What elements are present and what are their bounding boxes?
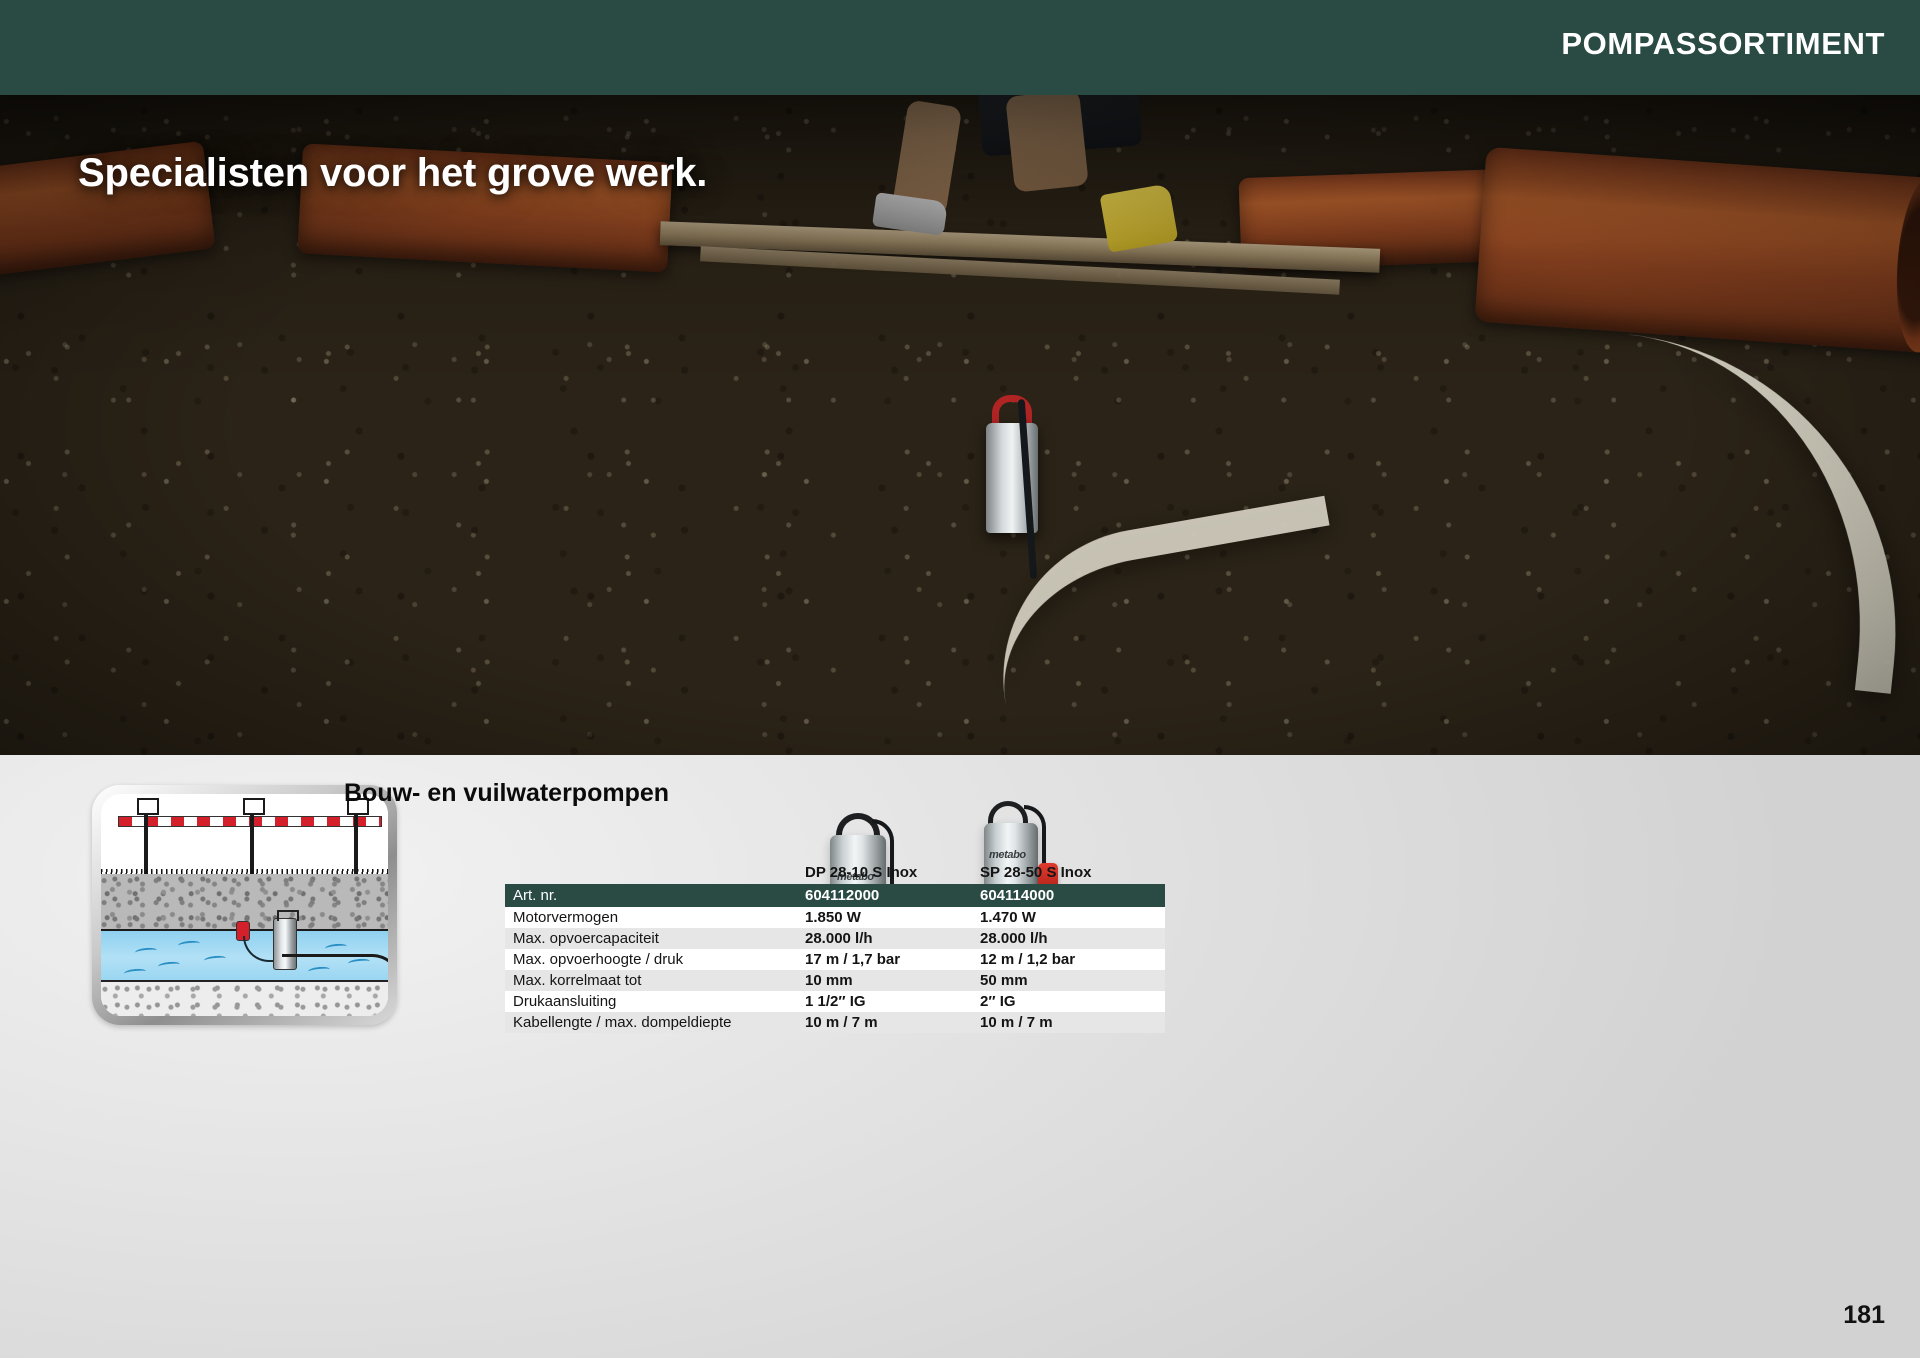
table-row: Art. nr. 604112000 604114000 xyxy=(505,884,1165,907)
barrier-post xyxy=(250,807,254,874)
row-value-dp: 1.850 W xyxy=(805,909,980,926)
row-label: Max. korrelmaat tot xyxy=(505,972,805,989)
table-row: Max. opvoercapaciteit 28.000 l/h 28.000 … xyxy=(505,928,1165,949)
barrier-post xyxy=(144,807,148,874)
row-label: Kabellengte / max. dompeldiepte xyxy=(505,1014,805,1031)
row-label: Drukaansluiting xyxy=(505,993,805,1010)
table-header-row: DP 28-10 S Inox SP 28-50 S Inox xyxy=(505,860,1165,884)
table-row: Kabellengte / max. dompeldiepte 10 m / 7… xyxy=(505,1012,1165,1033)
column-header-dp: DP 28-10 S Inox xyxy=(805,864,980,881)
row-label: Art. nr. xyxy=(505,887,805,904)
hero-banner: Specialisten voor het grove werk. xyxy=(0,95,1920,755)
table-row: Max. opvoerhoogte / druk 17 m / 1,7 bar … xyxy=(505,949,1165,970)
row-label: Motorvermogen xyxy=(505,909,805,926)
section-title: Bouw- en vuilwaterpompen xyxy=(344,779,669,808)
row-label: Max. opvoerhoogte / druk xyxy=(505,951,805,968)
application-illustration-card xyxy=(92,785,397,1025)
water-wave xyxy=(135,947,158,956)
row-value-sp: 50 mm xyxy=(980,972,1165,989)
water-wave xyxy=(325,943,348,952)
content-panel: Bouw- en vuilwaterpompen metabo metabo xyxy=(0,755,1920,1358)
table-row: Max. korrelmaat tot 10 mm 50 mm xyxy=(505,970,1165,991)
row-value-dp: 604112000 xyxy=(805,887,980,904)
catalog-page: POMPASSORTIMENT Specialisten voor he xyxy=(0,0,1920,1358)
barrier-post xyxy=(354,807,358,874)
row-value-sp: 12 m / 1,2 bar xyxy=(980,951,1165,968)
table-row: Drukaansluiting 1 1/2″ IG 2″ IG xyxy=(505,991,1165,1012)
illustration-scene xyxy=(101,794,388,1016)
top-header-bar: POMPASSORTIMENT xyxy=(0,0,1920,95)
row-value-dp: 1 1/2″ IG xyxy=(805,993,980,1010)
row-value-dp: 17 m / 1,7 bar xyxy=(805,951,980,968)
row-value-dp: 10 m / 7 m xyxy=(805,1014,980,1031)
table-row: Motorvermogen 1.850 W 1.470 W xyxy=(505,907,1165,928)
row-value-sp: 1.470 W xyxy=(980,909,1165,926)
header-title: POMPASSORTIMENT xyxy=(1561,26,1885,62)
water-wave xyxy=(204,955,227,964)
gravel-base-layer xyxy=(101,980,388,1016)
row-value-sp: 10 m / 7 m xyxy=(980,1014,1165,1031)
hero-headline: Specialisten voor het grove werk. xyxy=(78,151,707,196)
row-value-sp: 28.000 l/h xyxy=(980,930,1165,947)
page-number: 181 xyxy=(1843,1301,1885,1330)
row-label: Max. opvoercapaciteit xyxy=(505,930,805,947)
specification-table: DP 28-10 S Inox SP 28-50 S Inox Art. nr.… xyxy=(505,860,1165,1033)
water-wave xyxy=(178,940,201,949)
row-value-dp: 28.000 l/h xyxy=(805,930,980,947)
water-wave xyxy=(158,961,181,970)
row-value-sp: 604114000 xyxy=(980,887,1165,904)
row-value-dp: 10 mm xyxy=(805,972,980,989)
water-wave xyxy=(124,968,147,977)
row-value-sp: 2″ IG xyxy=(980,993,1165,1010)
column-header-sp: SP 28-50 S Inox xyxy=(980,864,1165,881)
